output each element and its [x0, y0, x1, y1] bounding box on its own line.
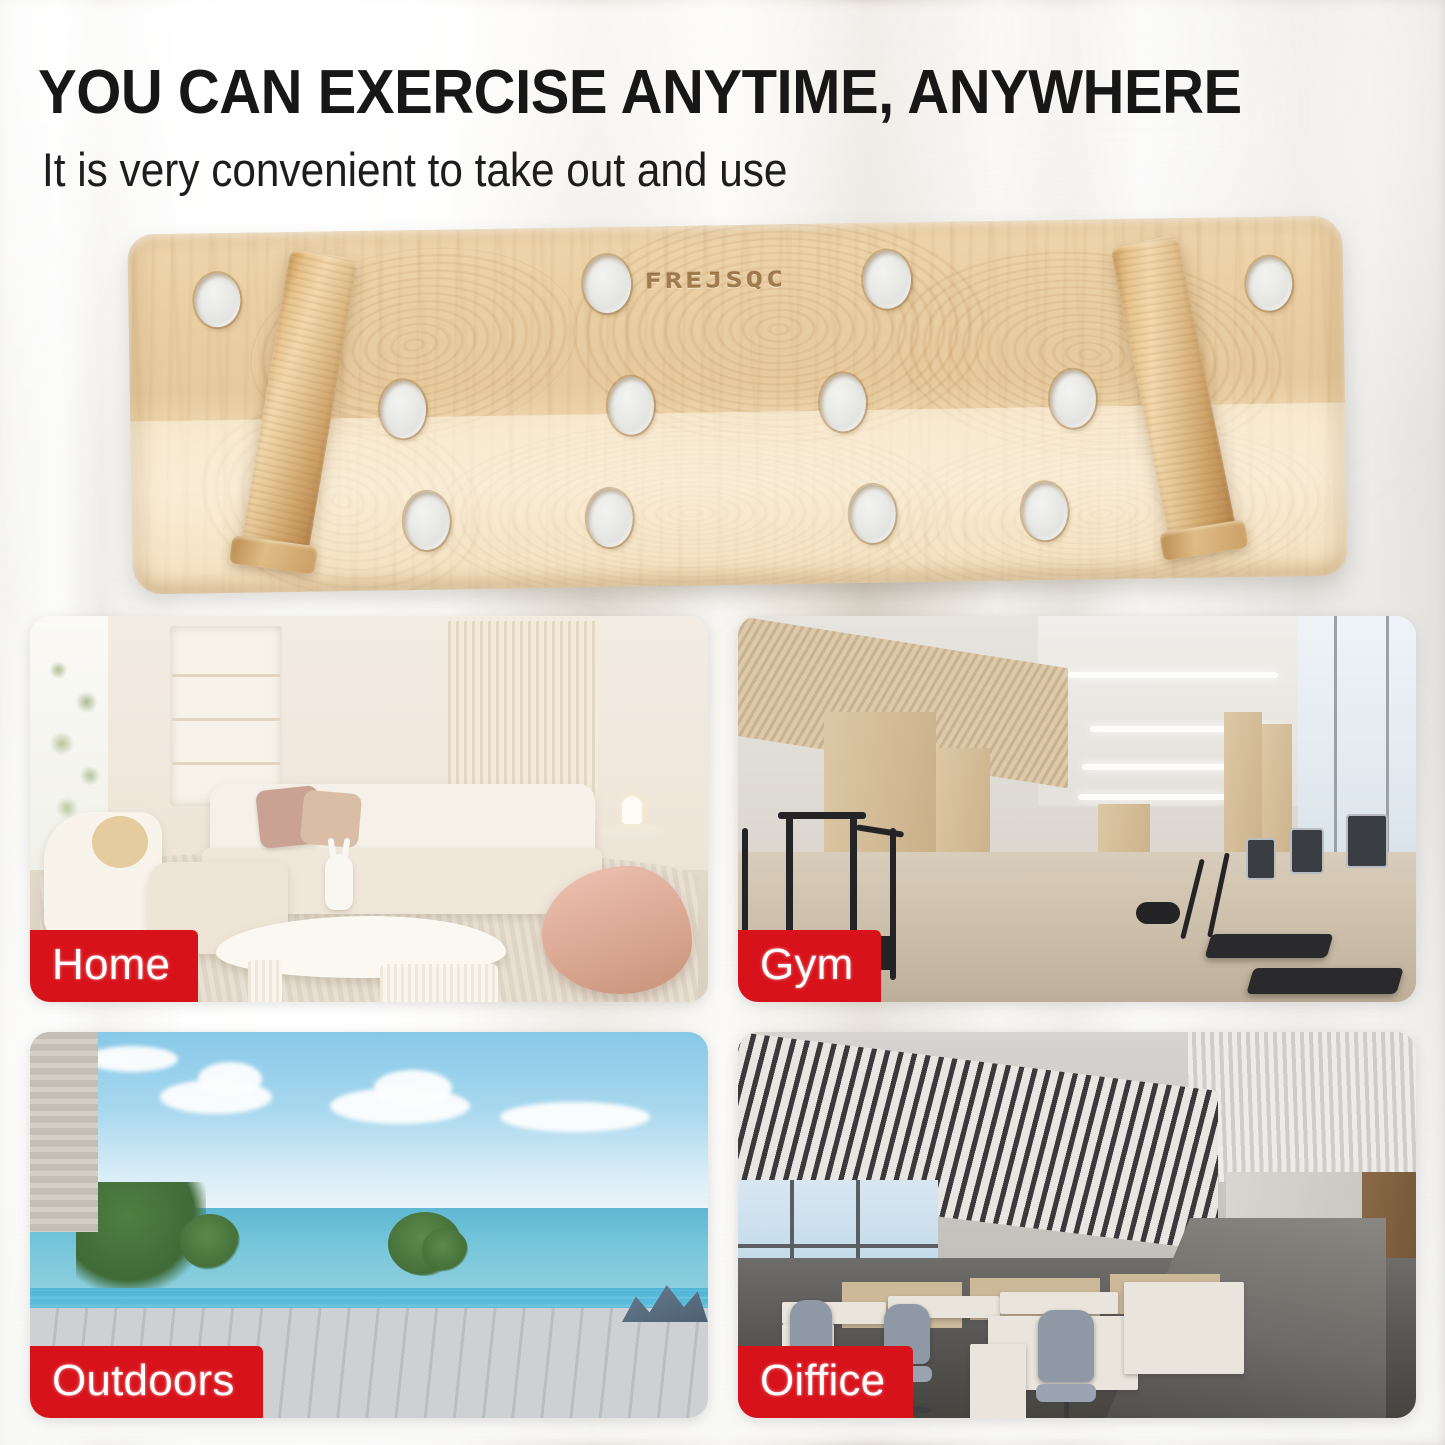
treadmill-screen	[1290, 828, 1324, 874]
board-edge-shading	[127, 215, 1348, 594]
cable-machine-beam	[778, 812, 866, 819]
treadmill-deck	[1205, 934, 1334, 958]
ceiling-panel	[1188, 1032, 1416, 1182]
tree	[422, 1228, 468, 1272]
chair-backrest	[1038, 1310, 1094, 1382]
use-case-card-office[interactable]: Oiffice	[738, 1032, 1416, 1418]
shelf	[172, 718, 280, 721]
rabbit-figurine	[325, 854, 353, 910]
treadmill-screen	[1246, 838, 1276, 880]
product-infographic: YOU CAN EXERCISE ANYTIME, ANYWHERE It is…	[0, 0, 1445, 1445]
page-title: YOU CAN EXERCISE ANYTIME, ANYWHERE	[38, 58, 1338, 128]
use-case-grid: Home	[30, 616, 1416, 1416]
pegboard: FREJSQC	[127, 215, 1348, 594]
page-subtitle: It is very convenient to take out and us…	[42, 142, 787, 198]
badge-office: Oiffice	[738, 1346, 913, 1418]
pedestal-cabinet	[970, 1344, 1026, 1418]
treadmill-screen	[1346, 814, 1388, 868]
table-leg	[248, 960, 282, 1002]
cloud	[374, 1070, 452, 1106]
ceiling-light	[1078, 794, 1226, 800]
ceiling-light	[1068, 672, 1278, 678]
window-mullion	[738, 1244, 938, 1248]
equipment	[1136, 902, 1180, 924]
table-lamp	[622, 796, 642, 824]
product-hero: FREJSQC	[105, 215, 1370, 605]
chair-post	[1064, 1402, 1069, 1418]
shelf	[172, 674, 280, 677]
cubicle-unit	[1124, 1282, 1244, 1374]
badge-outdoors: Outdoors	[30, 1346, 263, 1418]
table-base	[380, 964, 498, 1002]
building-wall	[30, 1032, 98, 1232]
chair-seat	[1036, 1384, 1096, 1402]
side-table	[602, 824, 664, 838]
use-case-card-outdoors[interactable]: Outdoors	[30, 1032, 708, 1418]
treadmill-deck	[1246, 968, 1403, 994]
use-case-card-gym[interactable]: Gym	[738, 616, 1416, 1002]
cloud	[86, 1046, 178, 1072]
use-case-card-home[interactable]: Home	[30, 616, 708, 1002]
shelf-niche	[170, 626, 282, 806]
tree	[180, 1214, 240, 1270]
badge-gym: Gym	[738, 930, 881, 1002]
badge-home: Home	[30, 930, 198, 1002]
round-cushion	[92, 816, 148, 868]
cloud	[198, 1062, 262, 1096]
shelf	[172, 762, 280, 765]
cloud	[500, 1102, 650, 1132]
